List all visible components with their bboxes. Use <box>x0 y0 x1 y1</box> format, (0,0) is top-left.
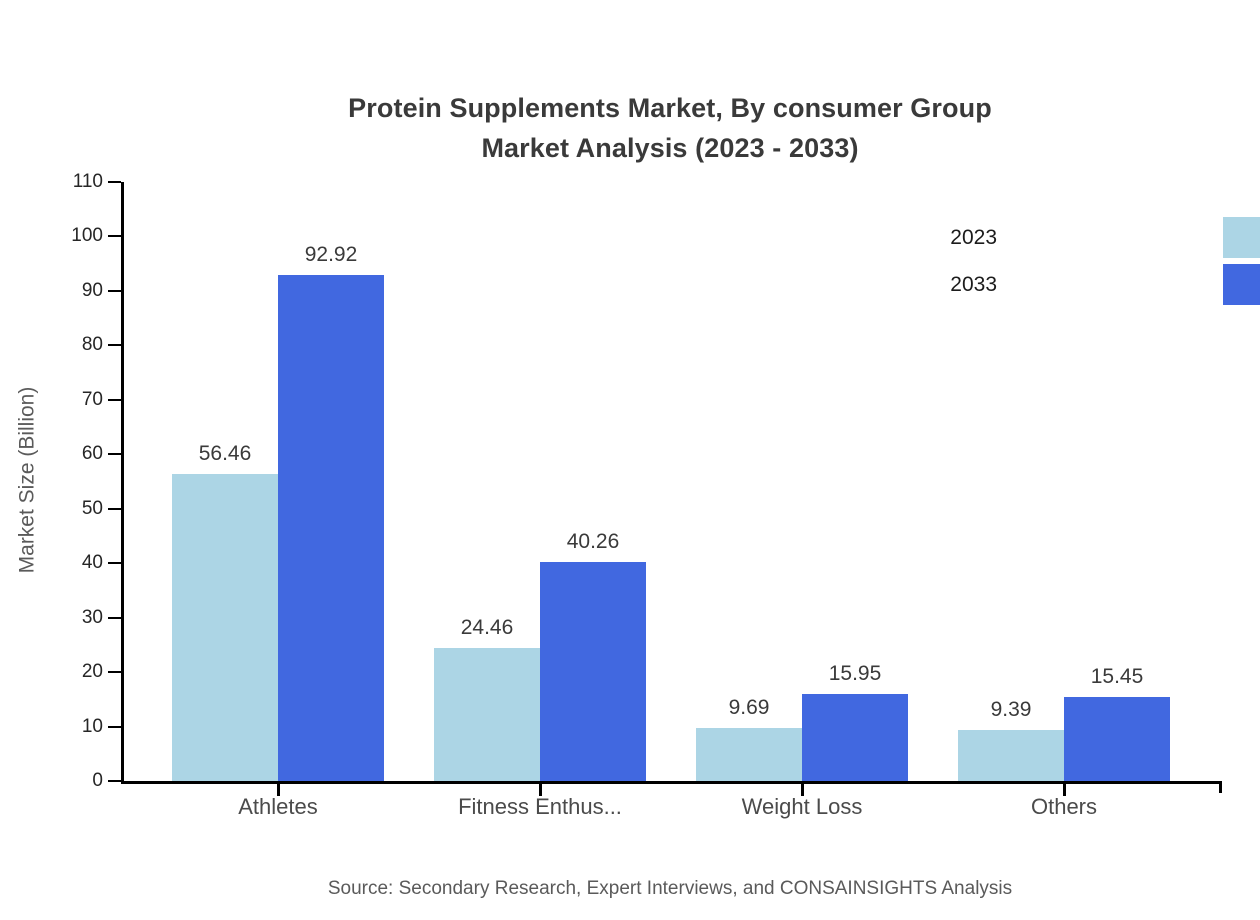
bar-value-label: 9.39 <box>991 698 1032 722</box>
bar-value-label: 15.95 <box>829 662 882 686</box>
y-axis-tick-mark <box>108 671 121 673</box>
bar-value-label: 56.46 <box>199 442 252 466</box>
y-axis-tick-label: 60 <box>82 443 103 465</box>
y-axis-tick-label: 10 <box>82 716 103 738</box>
x-axis-line <box>121 781 1222 784</box>
y-axis-tick-mark <box>108 181 121 183</box>
bar-value-label: 24.46 <box>461 616 514 640</box>
chart-title-line-2: Market Analysis (2023 - 2033) <box>0 128 1260 168</box>
y-axis-tick-mark <box>108 562 121 564</box>
y-axis-tick-mark <box>108 235 121 237</box>
source-note: Source: Secondary Research, Expert Inter… <box>0 878 1260 900</box>
chart-title-line-1: Protein Supplements Market, By consumer … <box>348 93 992 123</box>
y-axis-line <box>121 182 124 782</box>
y-axis-title-text: Market Size (Billion) <box>15 387 39 574</box>
y-axis-tick-label: 70 <box>82 389 103 411</box>
y-axis-tick-label: 100 <box>71 225 103 247</box>
x-axis-end-tick <box>1219 781 1222 793</box>
y-axis-tick-label: 80 <box>82 334 103 356</box>
y-axis-tick-mark <box>108 726 121 728</box>
y-axis-tick-mark <box>108 780 121 782</box>
bar-value-label: 40.26 <box>567 530 620 554</box>
legend-color-swatch <box>1223 264 1260 305</box>
bar-value-label: 92.92 <box>305 243 358 267</box>
y-axis-tick-label: 20 <box>82 661 103 683</box>
bar[interactable] <box>696 728 802 781</box>
y-axis-tick-label: 50 <box>82 498 103 520</box>
y-axis-tick-label: 90 <box>82 280 103 302</box>
x-axis-category-label: Others <box>1031 794 1097 820</box>
bar[interactable] <box>434 648 540 781</box>
bar[interactable] <box>278 275 384 781</box>
plot-area: 0102030405060708090100110 AthletesFitnes… <box>121 182 1222 781</box>
y-axis-tick-mark <box>108 617 121 619</box>
y-axis-tick-mark <box>108 344 121 346</box>
y-axis-tick-label: 0 <box>92 770 103 792</box>
x-axis-category-label: Weight Loss <box>742 794 863 820</box>
y-axis-tick-mark <box>108 453 121 455</box>
bar-value-label: 9.69 <box>729 696 770 720</box>
legend-color-swatch <box>1223 217 1260 258</box>
legend-item-label: 2033 <box>950 273 997 297</box>
y-axis-tick-label: 30 <box>82 607 103 629</box>
x-axis-category-label: Fitness Enthus... <box>458 794 622 820</box>
x-axis-category-label: Athletes <box>238 794 318 820</box>
y-axis-tick-mark <box>108 399 121 401</box>
bar[interactable] <box>540 562 646 781</box>
y-axis-tick-label: 40 <box>82 552 103 574</box>
y-axis-tick-label: 110 <box>73 171 103 193</box>
bar-value-label: 15.45 <box>1091 665 1144 689</box>
bar[interactable] <box>802 694 908 781</box>
y-axis-tick-mark <box>108 290 121 292</box>
y-axis-tick-mark <box>108 508 121 510</box>
bar[interactable] <box>1064 697 1170 781</box>
chart-page: Protein Supplements Market, By consumer … <box>0 0 1260 920</box>
bar[interactable] <box>172 474 278 781</box>
legend-item-label: 2023 <box>950 226 997 250</box>
bar[interactable] <box>958 730 1064 781</box>
